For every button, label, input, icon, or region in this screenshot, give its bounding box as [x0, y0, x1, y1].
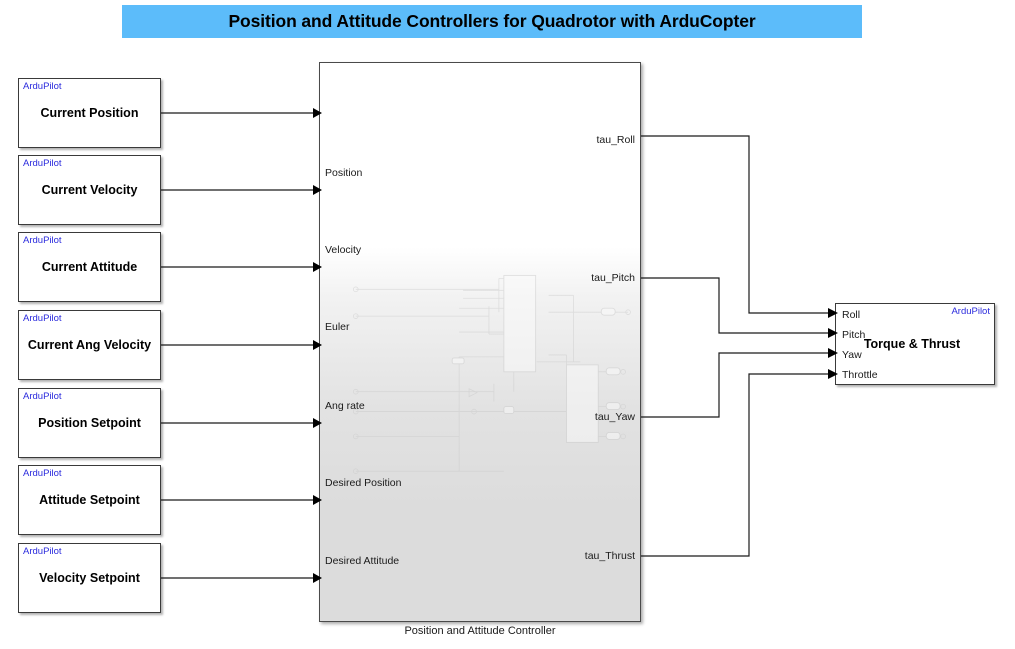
torque-and-thrust-block[interactable]: ArduPilot Torque & Thrust Roll Pitch Yaw…	[835, 303, 995, 385]
subsystem-preview-graphic	[320, 63, 640, 621]
diagram-title-banner: Position and Attitude Controllers for Qu…	[122, 5, 862, 38]
subsystem-input-desired-position: Desired Position	[325, 477, 401, 489]
ardupilot-tag: ArduPilot	[23, 81, 62, 92]
source-block-current-ang-velocity[interactable]: ArduPilot Current Ang Velocity	[18, 310, 161, 380]
subsystem-caption: Position and Attitude Controller	[319, 625, 641, 637]
subsystem-input-ang-rate: Ang rate	[325, 400, 365, 412]
wire-velocity-setpoint	[161, 573, 322, 583]
subsystem-input-desired-attitude: Desired Attitude	[325, 555, 399, 567]
ardupilot-tag: ArduPilot	[23, 235, 62, 246]
wire-current-velocity	[161, 185, 322, 195]
source-block-velocity-setpoint[interactable]: ArduPilot Velocity Setpoint	[18, 543, 161, 613]
wire-current-ang-velocity	[161, 340, 322, 350]
page-title: Position and Attitude Controllers for Qu…	[228, 11, 755, 32]
torque-input-pitch: Pitch	[842, 329, 865, 341]
wire-attitude-setpoint	[161, 495, 322, 505]
ardupilot-tag: ArduPilot	[23, 546, 62, 557]
ardupilot-tag: ArduPilot	[23, 158, 62, 169]
source-block-attitude-setpoint[interactable]: ArduPilot Attitude Setpoint	[18, 465, 161, 535]
wire-current-position	[161, 108, 322, 118]
block-label: Position Setpoint	[19, 416, 160, 430]
subsystem-input-position: Position	[325, 167, 362, 179]
simulink-canvas: Position and Attitude Controllers for Qu…	[0, 0, 1015, 649]
block-label: Current Attitude	[19, 260, 160, 274]
source-block-current-position[interactable]: ArduPilot Current Position	[18, 78, 161, 148]
source-block-position-setpoint[interactable]: ArduPilot Position Setpoint	[18, 388, 161, 458]
block-label: Current Position	[19, 106, 160, 120]
block-label: Current Velocity	[19, 183, 160, 197]
ardupilot-tag: ArduPilot	[23, 468, 62, 479]
subsystem-output-tau-yaw: tau_Yaw	[595, 411, 635, 423]
wire-tau-thrust	[641, 369, 838, 556]
ardupilot-tag: ArduPilot	[951, 306, 990, 317]
wire-position-setpoint	[161, 418, 322, 428]
wire-current-attitude	[161, 262, 322, 272]
source-block-current-attitude[interactable]: ArduPilot Current Attitude	[18, 232, 161, 302]
ardupilot-tag: ArduPilot	[23, 313, 62, 324]
block-label: Current Ang Velocity	[19, 338, 160, 352]
subsystem-input-euler: Euler	[325, 321, 350, 333]
position-attitude-controller-subsystem[interactable]: Position Velocity Euler Ang rate Desired…	[319, 62, 641, 622]
subsystem-input-velocity: Velocity	[325, 244, 361, 256]
torque-input-yaw: Yaw	[842, 349, 862, 361]
wire-tau-yaw	[641, 348, 838, 417]
subsystem-output-tau-roll: tau_Roll	[596, 134, 635, 146]
source-block-current-velocity[interactable]: ArduPilot Current Velocity	[18, 155, 161, 225]
wire-tau-roll	[641, 136, 838, 318]
torque-input-throttle: Throttle	[842, 369, 878, 381]
block-label: Attitude Setpoint	[19, 493, 160, 507]
block-label: Velocity Setpoint	[19, 571, 160, 585]
subsystem-output-tau-thrust: tau_Thrust	[585, 550, 635, 562]
torque-input-roll: Roll	[842, 309, 860, 321]
subsystem-output-tau-pitch: tau_Pitch	[591, 272, 635, 284]
wire-tau-pitch	[641, 278, 838, 338]
ardupilot-tag: ArduPilot	[23, 391, 62, 402]
